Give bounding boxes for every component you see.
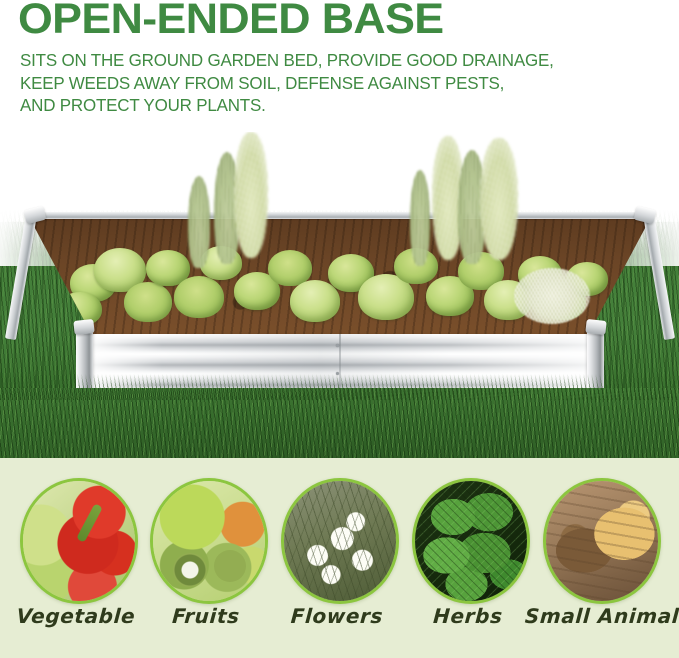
vegetable-icon (23, 481, 135, 601)
small-animals-photo-oval (543, 478, 661, 604)
plant-rows (28, 210, 652, 338)
herbs-icon (415, 481, 527, 601)
bed-rail-back (28, 212, 652, 219)
header-section: OPEN-ENDED BASE SITS ON THE GROUND GARDE… (0, 0, 679, 132)
category-badge-list: Vegetable Fruits Flowers Herbs (0, 458, 679, 658)
category-label-flowers: Flowers (262, 604, 412, 628)
subheadline: SITS ON THE GROUND GARDEN BED, PROVIDE G… (20, 49, 554, 117)
small-animals-icon (546, 481, 658, 601)
herbs-photo-oval (412, 478, 530, 604)
fruits-icon (153, 481, 265, 601)
category-label-small-animals: Small Animals (524, 604, 674, 628)
subheadline-line-3: AND PROTECT YOUR PLANTS. (20, 94, 554, 117)
subheadline-line-2: KEEP WEEDS AWAY FROM SOIL, DEFENSE AGAIN… (20, 72, 554, 95)
page-title: OPEN-ENDED BASE (18, 0, 443, 42)
product-infographic-page: OPEN-ENDED BASE SITS ON THE GROUND GARDE… (0, 0, 679, 658)
bed-planting-surface (28, 210, 652, 338)
category-label-fruits: Fruits (131, 604, 281, 628)
corner-cap-front-right (585, 319, 606, 335)
vegetable-photo-oval (20, 478, 138, 604)
flowers-photo-oval (281, 478, 399, 604)
fruits-photo-oval (150, 478, 268, 604)
corner-cap-front-left (73, 319, 94, 335)
product-photo (0, 126, 679, 476)
subheadline-line-1: SITS ON THE GROUND GARDEN BED, PROVIDE G… (20, 49, 554, 72)
category-label-vegetable: Vegetable (1, 604, 151, 628)
flowers-icon (284, 481, 396, 601)
category-strip: Vegetable Fruits Flowers Herbs (0, 458, 679, 658)
category-label-herbs: Herbs (393, 604, 543, 628)
